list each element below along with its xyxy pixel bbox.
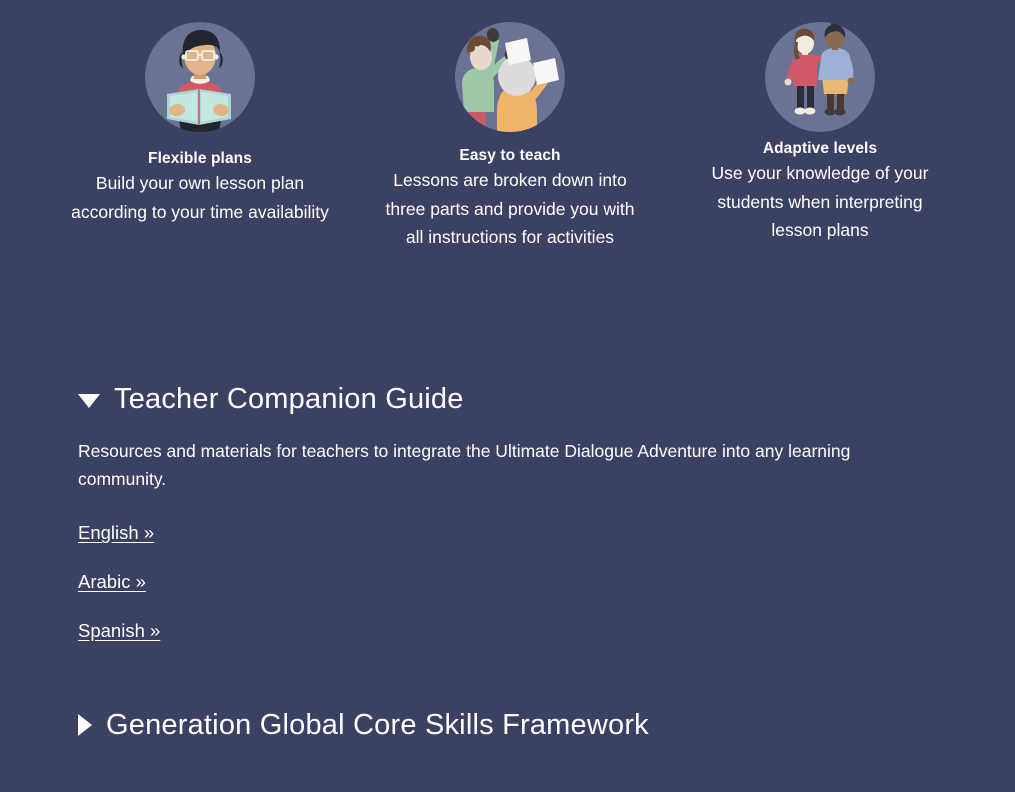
accordion-header-core-skills-framework[interactable]: Generation Global Core Skills Framework — [78, 708, 938, 743]
students-raising-hands-icon — [455, 22, 565, 132]
link-arabic[interactable]: Arabic » — [78, 571, 146, 592]
accordion-core-skills-framework: Generation Global Core Skills Framework — [78, 708, 938, 743]
feature-description: Use your knowledge of your students when… — [695, 159, 945, 244]
accordion-description: Resources and materials for teachers to … — [78, 437, 878, 494]
page-root: Flexible plans Build your own lesson pla… — [0, 0, 1015, 792]
feature-description: Lessons are broken down into three parts… — [376, 166, 644, 251]
two-students-together-icon — [765, 22, 875, 132]
caret-down-icon[interactable] — [78, 394, 100, 408]
list-item: Arabic » — [78, 571, 938, 593]
feature-description: Build your own lesson plan according to … — [70, 169, 330, 226]
feature-title: Adaptive levels — [763, 139, 877, 158]
accordion-header-teacher-companion-guide[interactable]: Teacher Companion Guide — [78, 382, 938, 417]
feature-card-flexible-plans: Flexible plans Build your own lesson pla… — [60, 22, 340, 226]
feature-title: Easy to teach — [459, 146, 560, 165]
feature-columns: Flexible plans Build your own lesson pla… — [60, 22, 960, 251]
list-item: English » — [78, 522, 938, 544]
link-english[interactable]: English » — [78, 522, 154, 543]
list-item: Spanish » — [78, 620, 938, 642]
accordion-teacher-companion-guide: Teacher Companion Guide Resources and ma… — [78, 382, 938, 642]
accordion-title: Generation Global Core Skills Framework — [106, 708, 649, 743]
accordion-panel-teacher-companion-guide: Resources and materials for teachers to … — [78, 437, 938, 642]
document-language-links: English » Arabic » Spanish » — [78, 522, 938, 642]
feature-card-adaptive-levels: Adaptive levels Use your knowledge of yo… — [680, 22, 960, 244]
caret-right-icon[interactable] — [78, 714, 92, 736]
accordion-title: Teacher Companion Guide — [114, 382, 464, 417]
teacher-reading-book-icon — [145, 22, 255, 132]
feature-title: Flexible plans — [148, 149, 252, 168]
feature-card-easy-to-teach: Easy to teach Lessons are broken down in… — [370, 22, 650, 251]
link-spanish[interactable]: Spanish » — [78, 620, 160, 641]
